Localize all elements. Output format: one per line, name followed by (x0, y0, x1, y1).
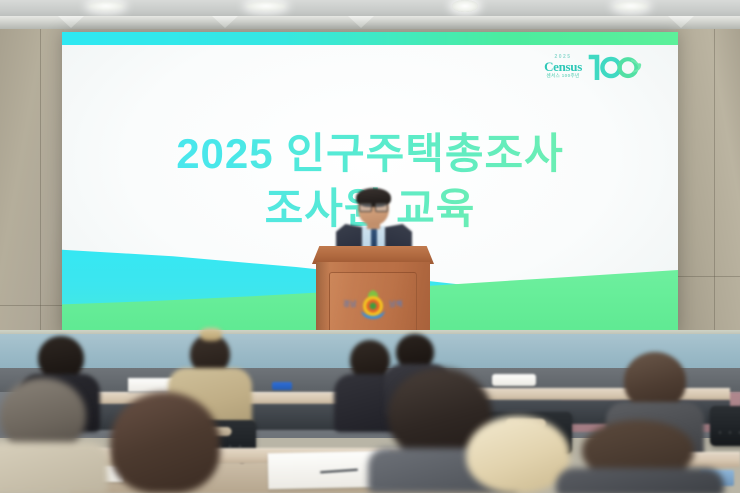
census-100-mark-icon (586, 54, 644, 80)
wall-seam (714, 29, 715, 370)
ceiling-light (614, 1, 648, 11)
census-wordmark: 2025 Census 센서스 100주년 (544, 55, 582, 79)
wall-seam (0, 305, 64, 306)
audience-member-foreground (96, 392, 238, 493)
wall-seam (40, 29, 41, 370)
slide-title-line1: 2025 인구주택총조사 (62, 128, 678, 179)
wall-seam (676, 276, 740, 277)
audience-member-foreground (0, 378, 112, 493)
speaker-glasses-icon (359, 203, 388, 210)
podium-emblem-icon: 경남 남해 (346, 288, 400, 322)
audience-body (0, 442, 108, 493)
audience-head (0, 378, 86, 452)
hair-clip-icon (200, 328, 222, 341)
ceiling-light (88, 1, 124, 11)
smartphone (272, 382, 292, 390)
audience-member-foreground (556, 424, 724, 493)
audience-body (556, 468, 724, 493)
ceiling-light (246, 1, 286, 11)
wall-panel-left (0, 29, 64, 370)
census-logo: 2025 Census 센서스 100주년 (544, 54, 644, 80)
slide-top-bar (62, 32, 678, 45)
speaker-person (338, 190, 410, 252)
audience-head (110, 392, 220, 493)
census-logo-word: Census (544, 60, 582, 73)
ceiling-light (452, 0, 478, 12)
audience-head (466, 416, 570, 493)
wall-panel-right (676, 29, 740, 370)
photo-scene: 2025 인구주택총조사 조사원 교육 2025 Census 센서스 100주… (0, 0, 740, 493)
census-logo-subtitle: 센서스 100주년 (547, 74, 580, 79)
